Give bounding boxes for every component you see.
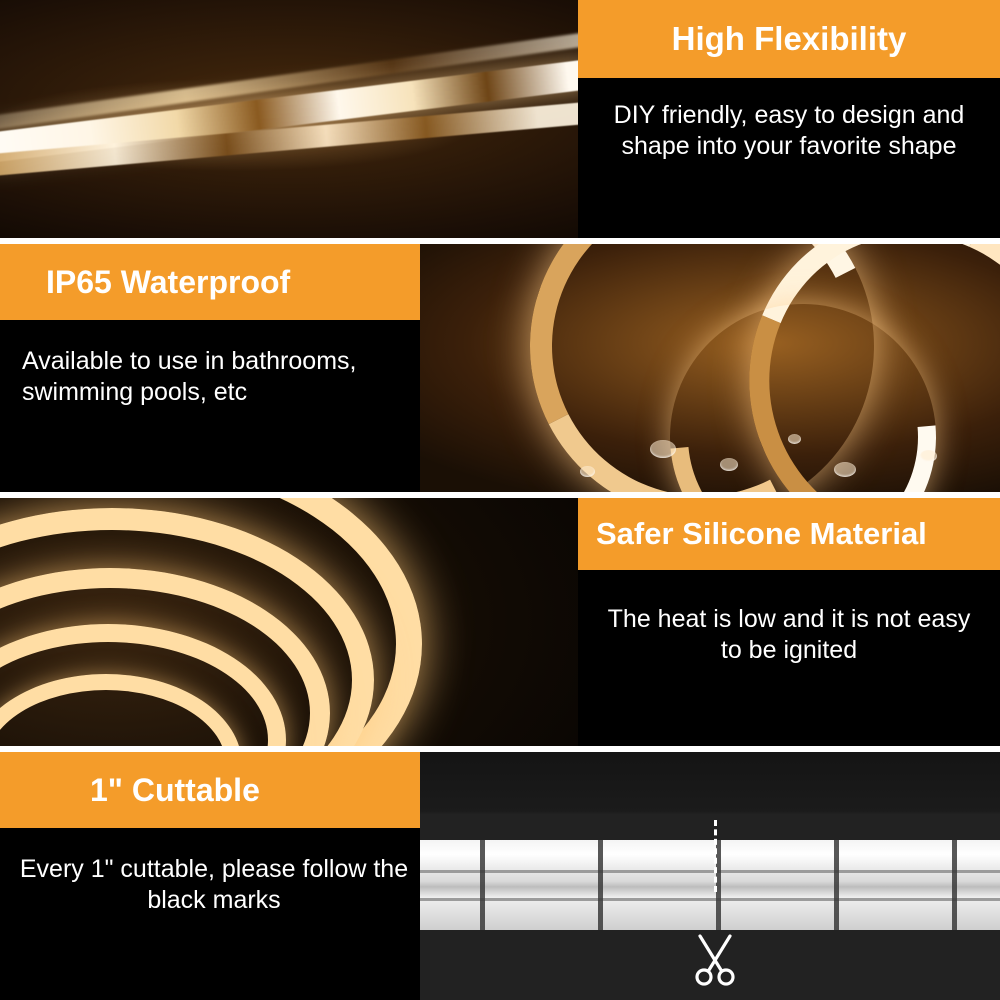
cut-mark xyxy=(480,840,485,930)
safer-silicone-panel: Safer Silicone Material The heat is low … xyxy=(578,498,1000,746)
twisted-strip-artwork xyxy=(0,0,578,238)
panel-body: High Flexibility DIY friendly, easy to d… xyxy=(578,0,1000,238)
high-flexibility-panel: High Flexibility DIY friendly, easy to d… xyxy=(578,0,1000,238)
ip65-waterproof-photo xyxy=(420,244,1000,492)
cut-mark xyxy=(952,840,957,930)
strip-groove-lower xyxy=(420,898,1000,901)
feature-row-safer-silicone-material: Safer Silicone Material The heat is low … xyxy=(0,498,1000,746)
cut-mark xyxy=(834,840,839,930)
product-feature-infographic: High Flexibility DIY friendly, easy to d… xyxy=(0,0,1000,1000)
feature-row-one-inch-cuttable: 1" Cuttable Every 1" cuttable, please fo… xyxy=(0,752,1000,1000)
ip65-waterproof-panel: IP65 Waterproof Available to use in bath… xyxy=(0,244,420,492)
spiral-strip-artwork xyxy=(0,498,578,746)
feature-description-ip65-waterproof: Available to use in bathrooms, swimming … xyxy=(0,320,420,407)
feature-title-ip65-waterproof: IP65 Waterproof xyxy=(0,244,420,320)
panel-body: 1" Cuttable Every 1" cuttable, please fo… xyxy=(0,752,420,1000)
feature-title-high-flexibility: High Flexibility xyxy=(578,0,1000,78)
feature-description-one-inch-cuttable: Every 1" cuttable, please follow the bla… xyxy=(0,828,420,915)
cuttable-strip-artwork xyxy=(420,752,1000,1000)
strip-surface xyxy=(420,840,1000,930)
feature-description-safer-silicone-material: The heat is low and it is not easy to be… xyxy=(578,570,1000,665)
water-droplet xyxy=(650,440,676,458)
high-flexibility-photo xyxy=(0,0,578,238)
feature-row-high-flexibility: High Flexibility DIY friendly, easy to d… xyxy=(0,0,1000,238)
feature-description-high-flexibility: DIY friendly, easy to design and shape i… xyxy=(578,78,1000,161)
water-droplet xyxy=(834,462,856,477)
safer-silicone-photo xyxy=(0,498,578,746)
water-droplet xyxy=(720,458,738,471)
dashed-cut-line xyxy=(714,820,717,892)
water-droplet xyxy=(920,450,937,462)
one-inch-cuttable-photo xyxy=(420,752,1000,1000)
feature-title-one-inch-cuttable: 1" Cuttable xyxy=(0,752,420,828)
panel-body: IP65 Waterproof Available to use in bath… xyxy=(0,244,420,492)
cut-mark xyxy=(598,840,603,930)
one-inch-cuttable-panel: 1" Cuttable Every 1" cuttable, please fo… xyxy=(0,752,420,1000)
water-droplet xyxy=(788,434,801,444)
panel-body: Safer Silicone Material The heat is low … xyxy=(578,498,1000,746)
coiled-strip-artwork xyxy=(420,244,1000,492)
feature-row-ip65-waterproof: IP65 Waterproof Available to use in bath… xyxy=(0,244,1000,492)
scissors-icon xyxy=(688,932,742,986)
strip-groove-upper xyxy=(420,870,1000,873)
water-droplet xyxy=(580,466,595,477)
feature-title-safer-silicone-material: Safer Silicone Material xyxy=(578,498,1000,570)
